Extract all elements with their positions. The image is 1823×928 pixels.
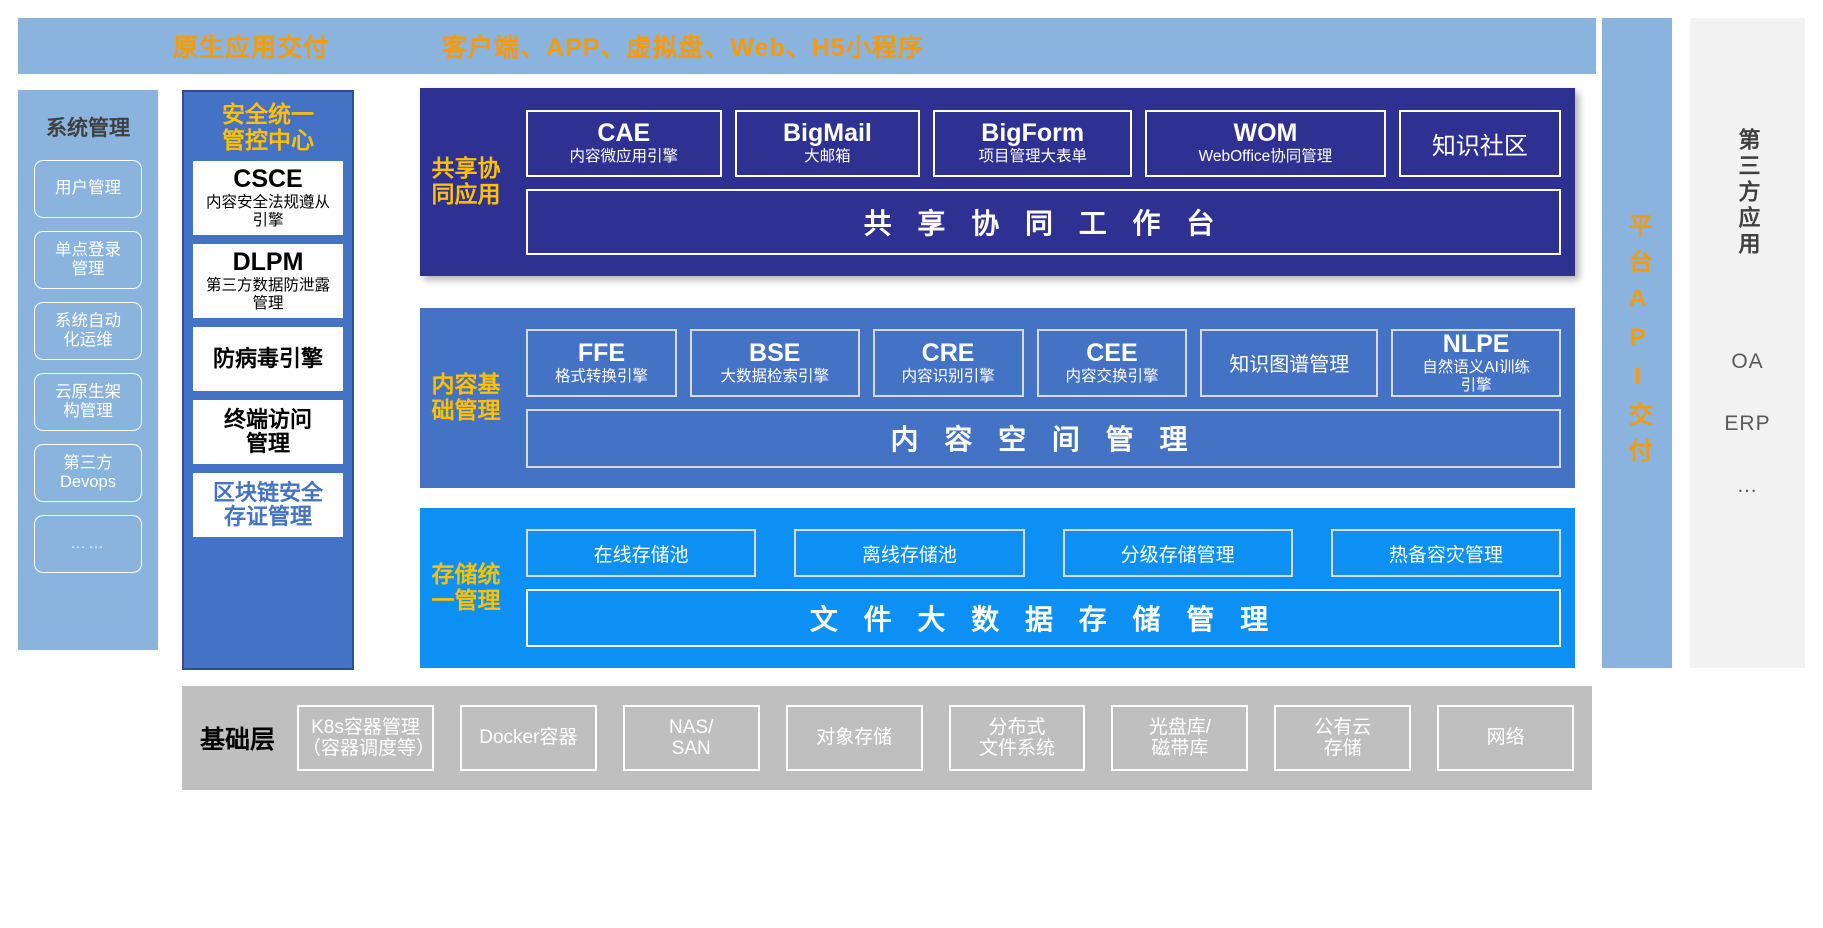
chip-offline-storage-pool-label: 离线存储池 — [862, 540, 957, 567]
security-item-antivirus-engine-label: 防病毒引擎 — [213, 347, 323, 371]
chip-bigform[interactable]: BigForm 项目管理大表单 — [933, 110, 1132, 177]
chip-wom-code: WOM — [1233, 120, 1297, 147]
chip-wom-desc: WebOffice协同管理 — [1199, 148, 1333, 165]
chip-wom[interactable]: WOM WebOffice协同管理 — [1145, 110, 1386, 177]
chip-cae[interactable]: CAE 内容微应用引擎 — [526, 110, 722, 177]
third-party-item-more: … — [1737, 474, 1759, 498]
chip-bigform-desc: 项目管理大表单 — [978, 148, 1087, 165]
layer-content-foundation-chips: FFE 格式转换引擎 BSE 大数据检索引擎 CRE 内容识别引擎 CEE 内容… — [512, 329, 1575, 397]
sidebar-item-system-automation-ops[interactable]: 系统自动化运维 — [34, 302, 142, 360]
security-item-antivirus-engine[interactable]: 防病毒引擎 — [193, 327, 343, 391]
chip-cee[interactable]: CEE 内容交换引擎 — [1037, 329, 1188, 397]
shared-collaboration-workbench-bar[interactable]: 共 享 协 同 工 作 台 — [526, 189, 1561, 255]
chip-ffe-code: FFE — [578, 340, 625, 367]
platform-api-delivery-column: 平台API交付 — [1602, 18, 1672, 668]
sidebar-item-cloud-native-architecture[interactable]: 云原生架构管理 — [34, 373, 142, 431]
chip-bse-code: BSE — [749, 340, 800, 367]
chip-bigmail-code: BigMail — [783, 120, 872, 147]
layer-storage-chips: 在线存储池 离线存储池 分级存储管理 热备容灾管理 — [512, 529, 1575, 577]
chip-knowledge-graph[interactable]: 知识图谱管理 — [1200, 329, 1378, 397]
security-item-blockchain-evidence[interactable]: 区块链安全存证管理 — [193, 473, 343, 537]
chip-hot-backup-dr-management-label: 热备容灾管理 — [1389, 540, 1503, 567]
chip-bigmail-desc: 大邮箱 — [804, 148, 851, 165]
system-management-column: 系统管理 用户管理 单点登录管理 系统自动化运维 云原生架构管理 第三方Devo… — [18, 90, 158, 650]
chip-tiered-storage-management-label: 分级存储管理 — [1121, 540, 1235, 567]
chip-bse-desc: 大数据检索引擎 — [721, 368, 830, 385]
chip-cre-desc: 内容识别引擎 — [902, 368, 995, 385]
third-party-item-oa: OA — [1731, 350, 1763, 374]
chip-online-storage-pool-label: 在线存储池 — [594, 540, 689, 567]
chip-bigform-code: BigForm — [981, 120, 1084, 147]
security-item-csce-code: CSCE — [233, 166, 302, 194]
chip-ffe-desc: 格式转换引擎 — [555, 368, 648, 385]
security-item-csce[interactable]: CSCE 内容安全法规遵从引擎 — [193, 161, 343, 235]
sidebar-item-user-management[interactable]: 用户管理 — [34, 160, 142, 218]
chip-cae-code: CAE — [597, 120, 650, 147]
architecture-diagram: 原生应用交付 客户端、APP、虚拟盘、Web、H5小程序 系统管理 用户管理 单… — [0, 0, 1823, 928]
third-party-item-erp: ERP — [1724, 412, 1770, 436]
layer-content-foundation-label: 内容基础管理 — [420, 308, 512, 488]
infra-chip-distributed-filesystem[interactable]: 分布式文件系统 — [949, 705, 1086, 771]
chip-online-storage-pool[interactable]: 在线存储池 — [526, 529, 756, 577]
sidebar-item-third-party-devops[interactable]: 第三方Devops — [34, 444, 142, 502]
chip-bigmail[interactable]: BigMail 大邮箱 — [735, 110, 921, 177]
chip-tiered-storage-management[interactable]: 分级存储管理 — [1063, 529, 1293, 577]
file-bigdata-storage-bar[interactable]: 文 件 大 数 据 存 储 管 理 — [526, 589, 1561, 647]
chip-nlpe-code: NLPE — [1443, 331, 1510, 358]
layer-shared-collaboration-label: 共享协同应用 — [420, 88, 512, 276]
security-item-dlpm-desc: 第三方数据防泄露管理 — [206, 277, 330, 313]
chip-knowledge-community[interactable]: 知识社区 — [1399, 110, 1561, 177]
infra-chip-k8s[interactable]: K8s容器管理（容器调度等） — [297, 705, 434, 771]
banner-title: 原生应用交付 — [173, 28, 329, 64]
layer-content-foundation: 内容基础管理 FFE 格式转换引擎 BSE 大数据检索引擎 CRE 内容识别引擎… — [420, 308, 1575, 488]
third-party-application-column: 第三方应用 OA ERP … — [1690, 18, 1805, 668]
chip-hot-backup-dr-management[interactable]: 热备容灾管理 — [1331, 529, 1561, 577]
infra-chip-network[interactable]: 网络 — [1437, 705, 1574, 771]
system-management-title: 系统管理 — [46, 112, 130, 142]
infra-chip-nas-san[interactable]: NAS/SAN — [623, 705, 760, 771]
chip-knowledge-community-label: 知识社区 — [1432, 126, 1528, 161]
infra-chip-optical-tape-library[interactable]: 光盘库/磁带库 — [1111, 705, 1248, 771]
banner-subtitle: 客户端、APP、虚拟盘、Web、H5小程序 — [442, 28, 924, 64]
security-center-title: 安全统一管控中心 — [222, 102, 314, 154]
chip-knowledge-graph-label: 知识图谱管理 — [1229, 348, 1349, 377]
sidebar-item-sso-management[interactable]: 单点登录管理 — [34, 231, 142, 289]
infra-chip-docker[interactable]: Docker容器 — [460, 705, 597, 771]
security-control-center-column: 安全统一管控中心 CSCE 内容安全法规遵从引擎 DLPM 第三方数据防泄露管理… — [182, 90, 354, 670]
chip-cre-code: CRE — [922, 340, 975, 367]
layer-shared-collaboration-chips: CAE 内容微应用引擎 BigMail 大邮箱 BigForm 项目管理大表单 … — [512, 110, 1575, 177]
layer-storage-management-label: 存储统一管理 — [420, 508, 512, 668]
top-banner: 原生应用交付 客户端、APP、虚拟盘、Web、H5小程序 — [18, 18, 1596, 74]
security-item-dlpm-code: DLPM — [233, 249, 304, 277]
infrastructure-label: 基础层 — [200, 720, 275, 756]
sidebar-item-more[interactable]: …… — [34, 515, 142, 573]
chip-cee-desc: 内容交换引擎 — [1065, 368, 1158, 385]
content-space-management-bar[interactable]: 内 容 空 间 管 理 — [526, 409, 1561, 468]
chip-offline-storage-pool[interactable]: 离线存储池 — [794, 529, 1024, 577]
chip-cae-desc: 内容微应用引擎 — [570, 148, 679, 165]
chip-nlpe[interactable]: NLPE 自然语义AI训练引擎 — [1391, 329, 1561, 397]
security-item-dlpm[interactable]: DLPM 第三方数据防泄露管理 — [193, 244, 343, 318]
security-item-csce-desc: 内容安全法规遵从引擎 — [206, 194, 330, 230]
infrastructure-items: K8s容器管理（容器调度等） Docker容器 NAS/SAN 对象存储 分布式… — [297, 705, 1574, 771]
chip-ffe[interactable]: FFE 格式转换引擎 — [526, 329, 677, 397]
chip-cee-code: CEE — [1086, 340, 1137, 367]
infra-chip-public-cloud-storage[interactable]: 公有云存储 — [1274, 705, 1411, 771]
platform-api-delivery-label: 平台API交付 — [1624, 213, 1650, 474]
security-item-terminal-access-label: 终端访问管理 — [224, 408, 312, 456]
security-item-terminal-access[interactable]: 终端访问管理 — [193, 400, 343, 464]
infrastructure-layer: 基础层 K8s容器管理（容器调度等） Docker容器 NAS/SAN 对象存储… — [182, 686, 1592, 790]
infra-chip-object-storage[interactable]: 对象存储 — [786, 705, 923, 771]
security-item-blockchain-evidence-label: 区块链安全存证管理 — [213, 481, 323, 529]
layer-shared-collaboration: 共享协同应用 CAE 内容微应用引擎 BigMail 大邮箱 BigForm 项… — [420, 88, 1575, 276]
layer-storage-management: 存储统一管理 在线存储池 离线存储池 分级存储管理 热备容灾管理 文 件 大 数… — [420, 508, 1575, 668]
chip-nlpe-desc: 自然语义AI训练引擎 — [1422, 359, 1530, 393]
chip-cre[interactable]: CRE 内容识别引擎 — [873, 329, 1024, 397]
third-party-title: 第三方应用 — [1732, 128, 1764, 258]
chip-bse[interactable]: BSE 大数据检索引擎 — [690, 329, 860, 397]
